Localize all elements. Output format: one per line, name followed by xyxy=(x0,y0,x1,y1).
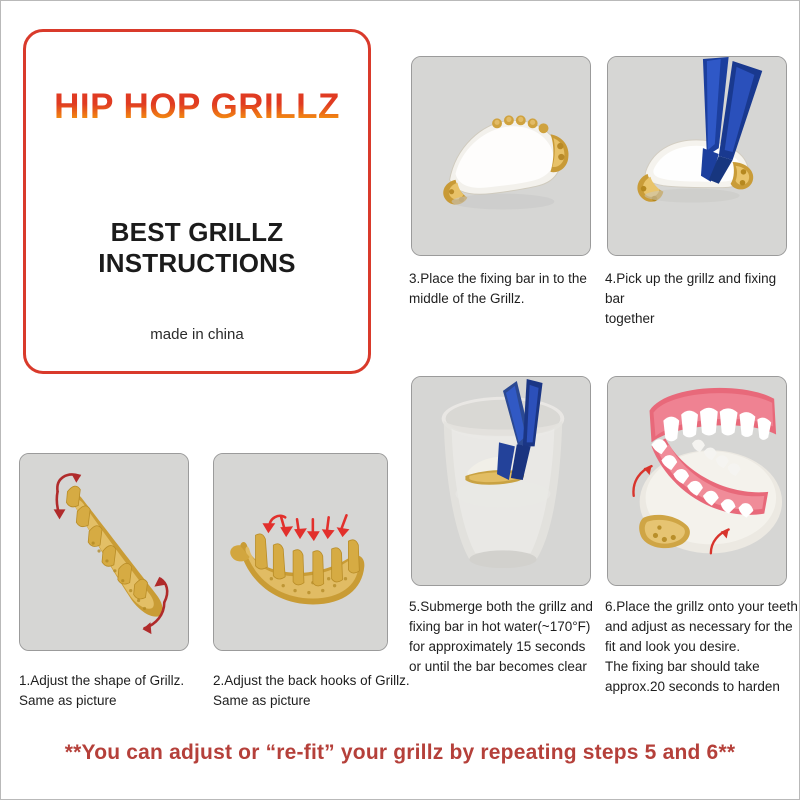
step-3-photo-panel xyxy=(411,56,591,256)
step-4-caption: 4.Pick up the grillz and fixing bar toge… xyxy=(605,269,795,329)
step-3-image xyxy=(412,57,590,255)
step-2-caption: 2.Adjust the back hooks of Grillz. Same … xyxy=(213,671,413,711)
footer-note: **You can adjust or “re-fit” your grillz… xyxy=(1,741,799,765)
step-1-photo-panel xyxy=(19,453,189,651)
step-6-photo-panel xyxy=(607,376,787,586)
made-in-label: made in china xyxy=(26,326,368,343)
step-5-caption: 5.Submerge both the grillz and fixing ba… xyxy=(409,597,599,677)
step-6-image xyxy=(608,377,786,585)
step-1-image xyxy=(20,454,188,650)
step-4-photo-panel xyxy=(607,56,787,256)
step-5-photo-panel xyxy=(411,376,591,586)
instruction-sheet: HIP HOP GRILLZ BEST GRILLZ INSTRUCTIONS … xyxy=(0,0,800,800)
step-6-caption: 6.Place the grillz onto your teeth and a… xyxy=(605,597,800,697)
step-1-caption: 1.Adjust the shape of Grillz. Same as pi… xyxy=(19,671,209,711)
step-5-image xyxy=(412,377,590,585)
page-title: BEST GRILLZ INSTRUCTIONS xyxy=(26,217,368,279)
step-2-photo-panel xyxy=(213,453,388,651)
step-2-image xyxy=(214,454,387,650)
title-card: HIP HOP GRILLZ BEST GRILLZ INSTRUCTIONS … xyxy=(23,29,371,374)
brand-title: HIP HOP GRILLZ xyxy=(26,87,368,127)
step-4-image xyxy=(608,57,786,255)
step-3-caption: 3.Place the fixing bar in to the middle … xyxy=(409,269,594,309)
